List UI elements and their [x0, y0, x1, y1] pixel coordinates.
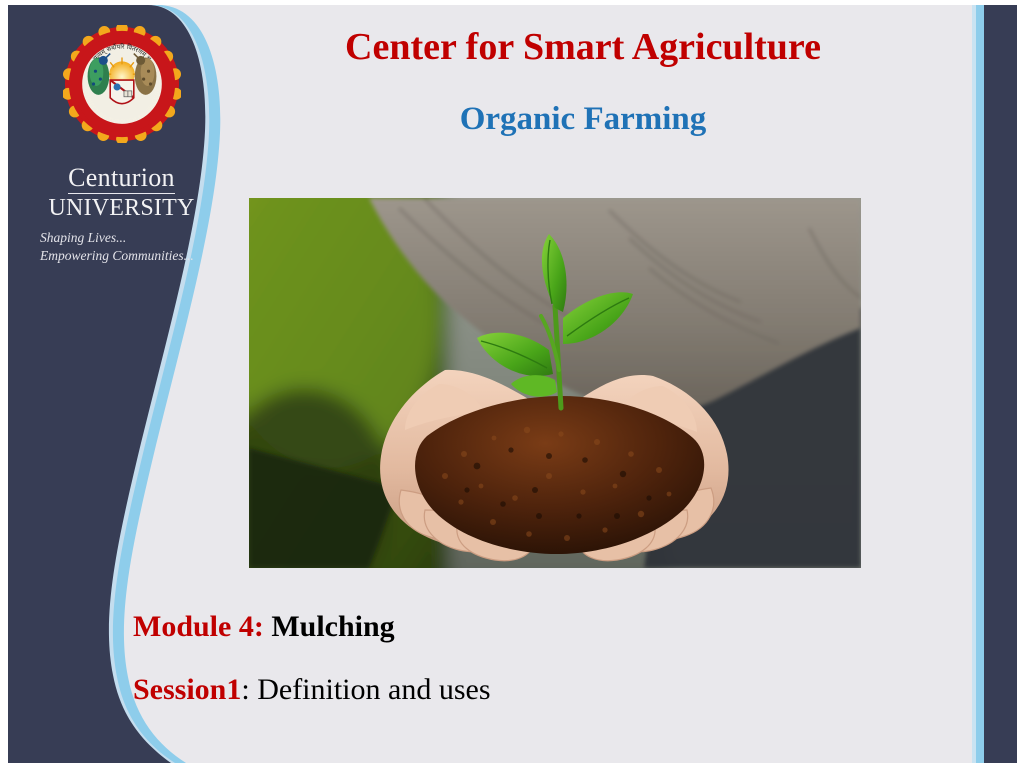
- slide-title: Center for Smart Agriculture: [208, 27, 958, 69]
- tagline-line-2: Empowering Communities...: [40, 247, 209, 265]
- session-title: : Definition and uses: [241, 673, 490, 706]
- slide-canvas: सत्यम् सर्वोपरि वितरणम् च CONNECTING THR…: [8, 5, 1017, 763]
- presentation-slide: सत्यम् सर्वोपरि वितरणम् च CONNECTING THR…: [0, 0, 1024, 768]
- right-navy-band-decoration: [984, 5, 1017, 763]
- session-caption: Session1: Definition and uses: [133, 673, 491, 707]
- university-word: UNIVERSITY: [34, 196, 209, 221]
- university-name: Centurion: [68, 165, 175, 194]
- slide-subtitle: Organic Farming: [208, 101, 958, 137]
- hands-holding-soil-seedling-photo: [249, 198, 861, 568]
- centurion-university-crest-icon: सत्यम् सर्वोपरि वितरणम् च CONNECTING THR…: [63, 25, 181, 143]
- tagline-line-1: Shaping Lives...: [40, 229, 209, 247]
- module-caption: Module 4: Mulching: [133, 610, 395, 644]
- university-tagline: Shaping Lives... Empowering Communities.…: [34, 229, 209, 265]
- module-label: Module 4:: [133, 610, 264, 643]
- module-title: Mulching: [271, 610, 394, 643]
- right-blue-stripe-decoration: [976, 5, 984, 763]
- university-branding-block: सत्यम् सर्वोपरि वितरणम् च CONNECTING THR…: [34, 25, 209, 266]
- session-label: Session1: [133, 673, 241, 706]
